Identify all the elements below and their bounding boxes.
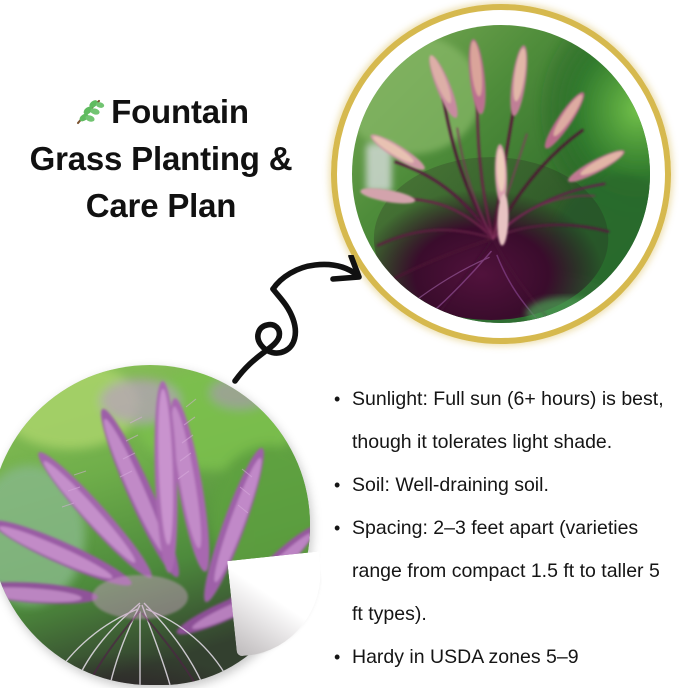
title-line-1: Fountain: [0, 88, 322, 135]
care-instructions-list: Sunlight: Full sun (6+ hours) is best, t…: [330, 378, 675, 679]
list-item: Spacing: 2–3 feet apart (varieties range…: [330, 507, 675, 636]
title-line-2: Grass Planting &: [0, 135, 322, 182]
infographic-canvas: Fountain Grass Planting & Care Plan: [0, 0, 679, 688]
sticker-peel-corner: [227, 551, 329, 656]
purple-fountain-grass-clump-photo: [352, 25, 650, 323]
list-item: Soil: Well-draining soil.: [330, 464, 675, 507]
list-item: Sunlight: Full sun (6+ hours) is best, t…: [330, 378, 675, 464]
title-line-3: Care Plan: [0, 182, 322, 229]
page-title: Fountain Grass Planting & Care Plan: [0, 88, 322, 229]
list-item: Hardy in USDA zones 5–9: [330, 636, 675, 679]
herb-leaf-icon: [73, 95, 105, 127]
title-text-1: Fountain: [111, 93, 249, 130]
